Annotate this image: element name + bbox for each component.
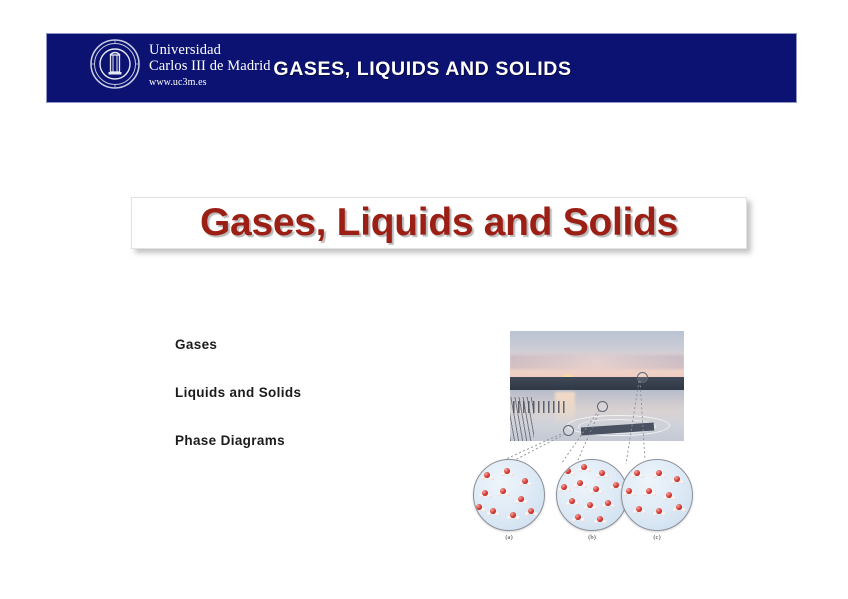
bubble-label-c: (c) [620, 534, 694, 541]
states-of-matter-figure: (a) (b) [460, 328, 700, 556]
bubble-solid [621, 459, 693, 531]
university-name-line2: Carlos III de Madrid [149, 58, 271, 74]
bubble-label-a: (a) [472, 534, 546, 541]
university-logo: Universidad Carlos III de Madrid www.uc3… [89, 38, 271, 90]
contents-item-gases[interactable]: Gases [175, 337, 475, 352]
bubble-label-b: (b) [555, 534, 629, 541]
cloud-band [510, 355, 684, 369]
callout-marker-c [637, 372, 648, 383]
slide-title: Gases, Liquids and Solids [200, 201, 678, 245]
tree-line [510, 377, 684, 391]
lake-at-sunset-photo [510, 331, 684, 441]
uc3m-seal-icon [89, 38, 141, 90]
slide-title-box: Gases, Liquids and Solids [131, 197, 747, 249]
molecular-view-c: (c) [620, 459, 694, 541]
contents-list: Gases Liquids and Solids Phase Diagrams [175, 337, 475, 481]
university-name-line1: Universidad [149, 42, 271, 58]
university-name: Universidad Carlos III de Madrid www.uc3… [149, 40, 271, 88]
callout-marker-a [563, 425, 574, 436]
bubble-liquid [473, 459, 545, 531]
callout-marker-b [597, 401, 608, 412]
slide-header-bar: Universidad Carlos III de Madrid www.uc3… [46, 33, 797, 103]
contents-item-phase-diagrams[interactable]: Phase Diagrams [175, 433, 475, 448]
contents-item-liquids-and-solids[interactable]: Liquids and Solids [175, 385, 475, 400]
molecular-view-b: (b) [555, 459, 629, 541]
dock-posts [513, 401, 565, 413]
university-website: www.uc3m.es [149, 77, 271, 88]
molecular-view-a: (a) [472, 459, 546, 541]
molecular-views-row: (a) (b) [460, 459, 700, 556]
bubble-gas [556, 459, 628, 531]
